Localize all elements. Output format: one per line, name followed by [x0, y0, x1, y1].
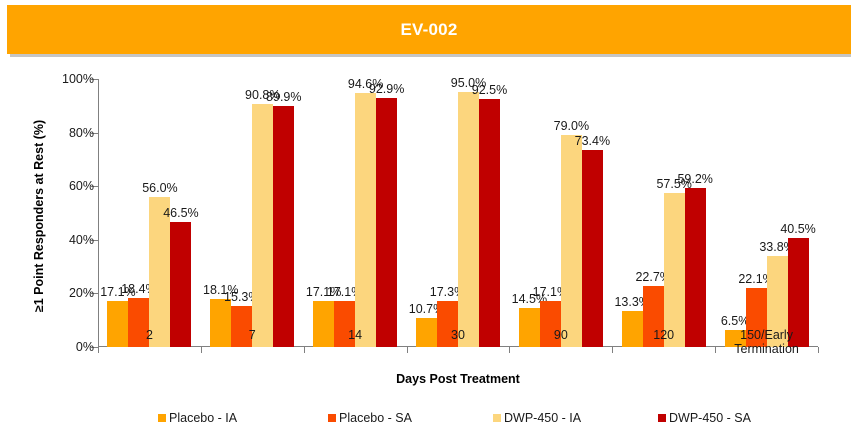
x-axis-label: 120 — [612, 328, 715, 342]
x-tick-mark — [304, 347, 305, 353]
legend-item[interactable]: DWP-450 - SA — [658, 409, 751, 427]
chart-page: EV-002 ≥1 Point Responders at Rest (%) 0… — [0, 0, 851, 447]
bar-slot: 33.8% — [767, 79, 788, 347]
legend-item[interactable]: Placebo - SA — [328, 409, 412, 427]
x-tick-mark — [407, 347, 408, 353]
y-tick-label: 100% — [62, 72, 94, 86]
y-tick-label: 40% — [69, 233, 94, 247]
bar-slot: 95.0% — [458, 79, 479, 347]
bar[interactable] — [273, 106, 294, 347]
bar-value-label: 46.5% — [163, 207, 198, 220]
bar[interactable] — [479, 99, 500, 347]
bar-slot: 14.5% — [519, 79, 540, 347]
bar-group: 14.5%17.1%79.0%73.4% — [509, 79, 612, 347]
x-axis-title: Days Post Treatment — [98, 372, 818, 386]
bar-slot: 18.4% — [128, 79, 149, 347]
bar-slot: 92.5% — [479, 79, 500, 347]
legend-swatch-icon — [493, 414, 501, 422]
x-tick-mark — [509, 347, 510, 353]
bar-value-label: 40.5% — [780, 223, 815, 236]
x-tick-mark — [201, 347, 202, 353]
bar-slot: 10.7% — [416, 79, 437, 347]
bar-slot: 17.1% — [334, 79, 355, 347]
legend-item[interactable]: Placebo - IA — [158, 409, 237, 427]
bar-group: 17.1%18.4%56.0%46.5% — [98, 79, 201, 347]
legend-label: DWP-450 - SA — [669, 411, 751, 425]
bar-slot: 17.1% — [107, 79, 128, 347]
bar[interactable] — [582, 150, 603, 347]
legend-swatch-icon — [328, 414, 336, 422]
bar-value-label: 89.9% — [266, 91, 301, 104]
bar-slot: 17.3% — [437, 79, 458, 347]
bar-group: 18.1%15.3%90.8%89.9% — [201, 79, 304, 347]
bar[interactable] — [458, 92, 479, 347]
x-axis-label: 14 — [304, 328, 407, 342]
page-title: EV-002 — [7, 5, 851, 54]
bar-slot: 13.3% — [622, 79, 643, 347]
bar-slot: 22.1% — [746, 79, 767, 347]
bar-slot: 40.5% — [788, 79, 809, 347]
y-axis-title: ≥1 Point Responders at Rest (%) — [32, 96, 46, 336]
x-axis-label: 90 — [509, 328, 612, 342]
bar-chart: ≥1 Point Responders at Rest (%) 0%20%40%… — [0, 54, 851, 447]
x-axis-label: 30 — [407, 328, 510, 342]
bar-group: 17.1%17.1%94.6%92.9% — [304, 79, 407, 347]
y-tick-label: 80% — [69, 126, 94, 140]
bar-value-label: 73.4% — [575, 135, 610, 148]
plot-area: 0%20%40%60%80%100% 17.1%18.4%56.0%46.5%1… — [98, 79, 818, 347]
bar-value-label: 59.2% — [677, 173, 712, 186]
bar-slot: 15.3% — [231, 79, 252, 347]
y-tick-label: 20% — [69, 286, 94, 300]
x-axis-label: 7 — [201, 328, 304, 342]
bar[interactable] — [355, 93, 376, 347]
x-axis-label: 2 — [98, 328, 201, 342]
bar[interactable] — [561, 135, 582, 347]
bar-slot: 90.8% — [252, 79, 273, 347]
x-tick-mark — [612, 347, 613, 353]
chart-legend: Placebo - IAPlacebo - SADWP-450 - IADWP-… — [98, 409, 818, 433]
legend-label: Placebo - SA — [339, 411, 412, 425]
bar[interactable] — [376, 98, 397, 347]
y-tick-label: 60% — [69, 179, 94, 193]
bar-slot: 22.7% — [643, 79, 664, 347]
y-tick-label: 0% — [76, 340, 94, 354]
bar[interactable] — [252, 104, 273, 347]
bar-group: 13.3%22.7%57.5%59.2% — [612, 79, 715, 347]
legend-swatch-icon — [158, 414, 166, 422]
bar-slot: 59.2% — [685, 79, 706, 347]
bar-group: 6.5%22.1%33.8%40.5% — [715, 79, 818, 347]
bar-value-label: 92.9% — [369, 83, 404, 96]
legend-item[interactable]: DWP-450 - IA — [493, 409, 581, 427]
bar-slot: 57.5% — [664, 79, 685, 347]
bar-slot: 94.6% — [355, 79, 376, 347]
bar[interactable] — [664, 193, 685, 347]
bar-slot: 46.5% — [170, 79, 191, 347]
legend-label: DWP-450 - IA — [504, 411, 581, 425]
header-banner: EV-002 — [7, 5, 851, 54]
x-tick-mark — [98, 347, 99, 353]
bar[interactable] — [685, 188, 706, 347]
legend-label: Placebo - IA — [169, 411, 237, 425]
bar-slot: 17.1% — [313, 79, 334, 347]
x-tick-mark — [818, 347, 819, 353]
bar-slot: 92.9% — [376, 79, 397, 347]
bar-slot: 89.9% — [273, 79, 294, 347]
x-axis-label: 150/​Early Termination — [715, 328, 818, 356]
legend-swatch-icon — [658, 414, 666, 422]
bar-group: 10.7%17.3%95.0%92.5% — [407, 79, 510, 347]
bar-slot: 6.5% — [725, 79, 746, 347]
bar-slot: 18.1% — [210, 79, 231, 347]
bar-slot: 79.0% — [561, 79, 582, 347]
bar-slot: 73.4% — [582, 79, 603, 347]
bar-value-label: 92.5% — [472, 84, 507, 97]
